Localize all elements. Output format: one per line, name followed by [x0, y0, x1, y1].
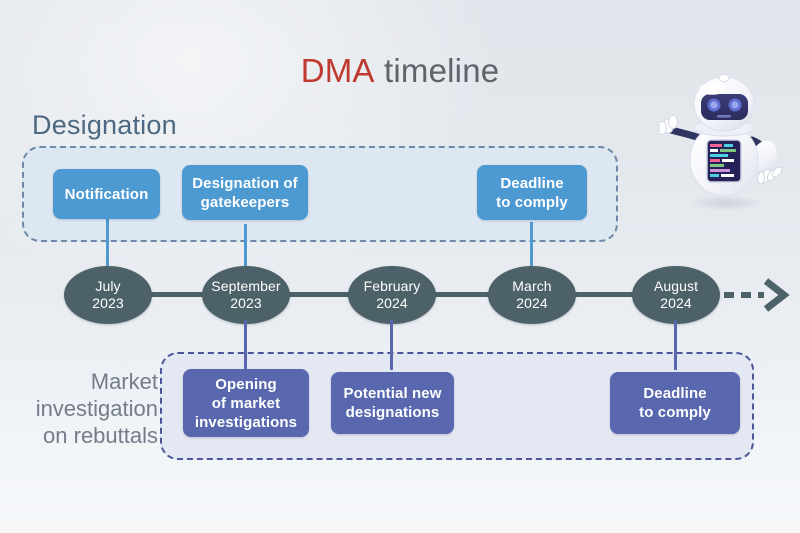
node-year: 2024: [660, 295, 692, 312]
timeline-node-september-2023[interactable]: September 2023: [202, 266, 290, 324]
connector-deadline-to-comply-top: [530, 222, 533, 270]
connector-opening-of-market-investigations: [244, 320, 247, 370]
node-year: 2023: [230, 295, 262, 312]
node-month: July: [95, 278, 120, 295]
event-box-designation-of-gatekeepers[interactable]: Designation of gatekeepers: [182, 165, 308, 220]
node-month: March: [512, 278, 551, 295]
timeline-infographic: DMA timeline Designation Notification De…: [0, 0, 800, 533]
node-month: August: [654, 278, 698, 295]
event-box-opening-of-market-investigations[interactable]: Opening of market investigations: [183, 369, 309, 437]
event-box-potential-new-designations[interactable]: Potential new designations: [331, 372, 454, 434]
event-box-notification[interactable]: Notification: [53, 169, 160, 219]
timeline-node-august-2024[interactable]: August 2024: [632, 266, 720, 324]
connector-notification: [106, 218, 109, 270]
market-investigation-section-label: Market investigation on rebuttals: [8, 368, 158, 449]
node-month: September: [211, 278, 280, 295]
node-year: 2023: [92, 295, 124, 312]
timeline-node-march-2024[interactable]: March 2024: [488, 266, 576, 324]
timeline-node-july-2023[interactable]: July 2023: [64, 266, 152, 324]
node-month: February: [364, 278, 421, 295]
timeline-node-february-2024[interactable]: February 2024: [348, 266, 436, 324]
title-rest-word: timeline: [384, 52, 499, 89]
connector-potential-new-designations: [390, 320, 393, 370]
connector-designation-of-gatekeepers: [244, 224, 247, 270]
event-box-deadline-to-comply-bottom[interactable]: Deadline to comply: [610, 372, 740, 434]
event-box-deadline-to-comply-top[interactable]: Deadline to comply: [477, 165, 587, 220]
timeline-end-arrow-icon: [722, 278, 792, 312]
title-accent-word: DMA: [301, 52, 375, 89]
node-year: 2024: [516, 295, 548, 312]
designation-section-label: Designation: [32, 110, 177, 141]
node-year: 2024: [376, 295, 408, 312]
robot-mascot-icon: [660, 72, 788, 212]
connector-deadline-to-comply-bottom: [674, 320, 677, 370]
